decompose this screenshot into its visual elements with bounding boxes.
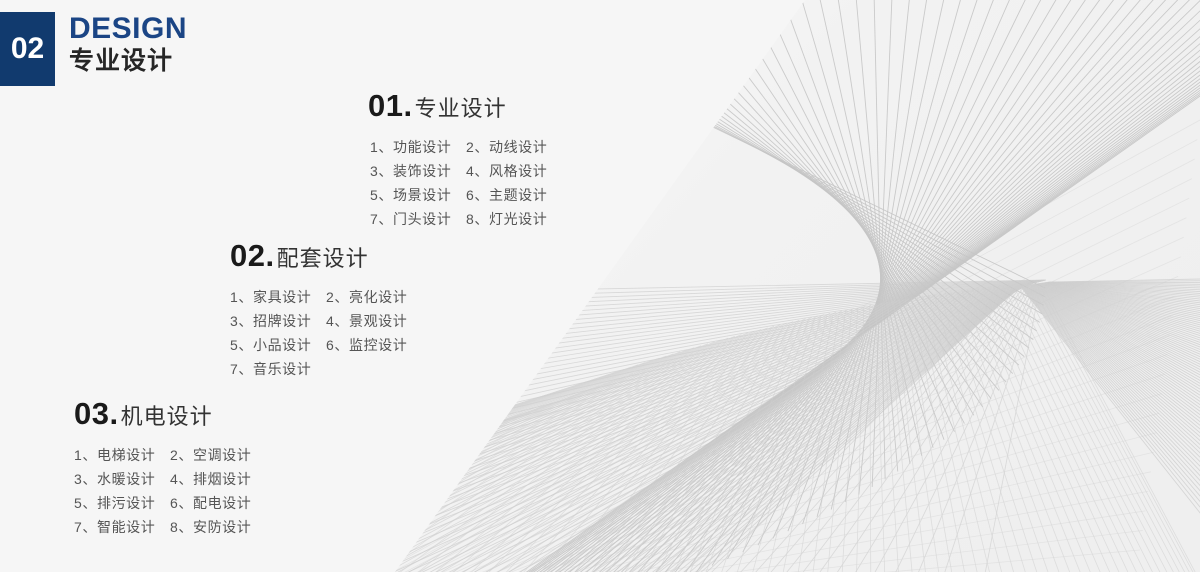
block-03-items: 1、电梯设计2、空调设计 3、水暖设计4、排烟设计 5、排污设计6、配电设计 7… — [74, 443, 251, 539]
list-item: 1、家具设计2、亮化设计 — [230, 285, 407, 309]
item-label: 1、家具设计 — [230, 285, 326, 309]
block-02-title: 02.配套设计 — [230, 240, 407, 271]
block-03-title: 03.机电设计 — [74, 398, 251, 429]
item-label: 3、装饰设计 — [370, 159, 466, 183]
item-label: 2、亮化设计 — [326, 285, 407, 309]
block-03-name: 机电设计 — [121, 404, 213, 429]
item-label: 6、监控设计 — [326, 333, 407, 357]
list-item: 7、音乐设计 — [230, 357, 407, 381]
content-block-02: 02.配套设计 1、家具设计2、亮化设计 3、招牌设计4、景观设计 5、小品设计… — [230, 240, 407, 381]
block-01-name: 专业设计 — [415, 96, 507, 121]
item-label: 2、空调设计 — [170, 443, 251, 467]
list-item: 5、场景设计6、主题设计 — [370, 183, 547, 207]
content-block-01: 01.专业设计 1、功能设计2、动线设计 3、装饰设计4、风格设计 5、场景设计… — [368, 90, 547, 231]
block-03-number: 03. — [74, 396, 119, 431]
item-label: 8、灯光设计 — [466, 207, 547, 231]
section-number-badge: 02 — [0, 12, 55, 86]
item-label: 6、配电设计 — [170, 491, 251, 515]
item-label: 5、场景设计 — [370, 183, 466, 207]
item-label: 4、排烟设计 — [170, 467, 251, 491]
slide-canvas: 02 DESIGN 专业设计 01.专业设计 1、功能设计2、动线设计 3、装饰… — [0, 0, 1200, 572]
item-label: 5、排污设计 — [74, 491, 170, 515]
list-item: 1、功能设计2、动线设计 — [370, 135, 547, 159]
block-02-number: 02. — [230, 238, 275, 273]
item-label: 7、音乐设计 — [230, 357, 326, 381]
header-title-group: DESIGN 专业设计 — [69, 13, 187, 75]
header-title-chinese: 专业设计 — [69, 47, 187, 75]
list-item: 7、门头设计8、灯光设计 — [370, 207, 547, 231]
list-item: 1、电梯设计2、空调设计 — [74, 443, 251, 467]
item-label: 4、景观设计 — [326, 309, 407, 333]
item-label: 7、智能设计 — [74, 515, 170, 539]
block-01-number: 01. — [368, 88, 413, 123]
block-02-items: 1、家具设计2、亮化设计 3、招牌设计4、景观设计 5、小品设计6、监控设计 7… — [230, 285, 407, 381]
item-label: 5、小品设计 — [230, 333, 326, 357]
list-item: 3、装饰设计4、风格设计 — [370, 159, 547, 183]
header-title-english: DESIGN — [69, 13, 187, 45]
block-01-title: 01.专业设计 — [368, 90, 547, 121]
item-label: 1、电梯设计 — [74, 443, 170, 467]
item-label: 8、安防设计 — [170, 515, 251, 539]
item-label: 3、水暖设计 — [74, 467, 170, 491]
list-item: 3、水暖设计4、排烟设计 — [74, 467, 251, 491]
item-label: 3、招牌设计 — [230, 309, 326, 333]
item-label: 7、门头设计 — [370, 207, 466, 231]
section-number-text: 02 — [11, 34, 44, 64]
content-block-03: 03.机电设计 1、电梯设计2、空调设计 3、水暖设计4、排烟设计 5、排污设计… — [74, 398, 251, 539]
list-item: 5、小品设计6、监控设计 — [230, 333, 407, 357]
list-item: 5、排污设计6、配电设计 — [74, 491, 251, 515]
block-02-name: 配套设计 — [277, 246, 369, 271]
item-label: 1、功能设计 — [370, 135, 466, 159]
list-item: 3、招牌设计4、景观设计 — [230, 309, 407, 333]
list-item: 7、智能设计8、安防设计 — [74, 515, 251, 539]
slide-header: 02 DESIGN 专业设计 — [0, 0, 187, 86]
item-label: 2、动线设计 — [466, 135, 547, 159]
block-01-items: 1、功能设计2、动线设计 3、装饰设计4、风格设计 5、场景设计6、主题设计 7… — [370, 135, 547, 231]
item-label: 6、主题设计 — [466, 183, 547, 207]
item-label: 4、风格设计 — [466, 159, 547, 183]
